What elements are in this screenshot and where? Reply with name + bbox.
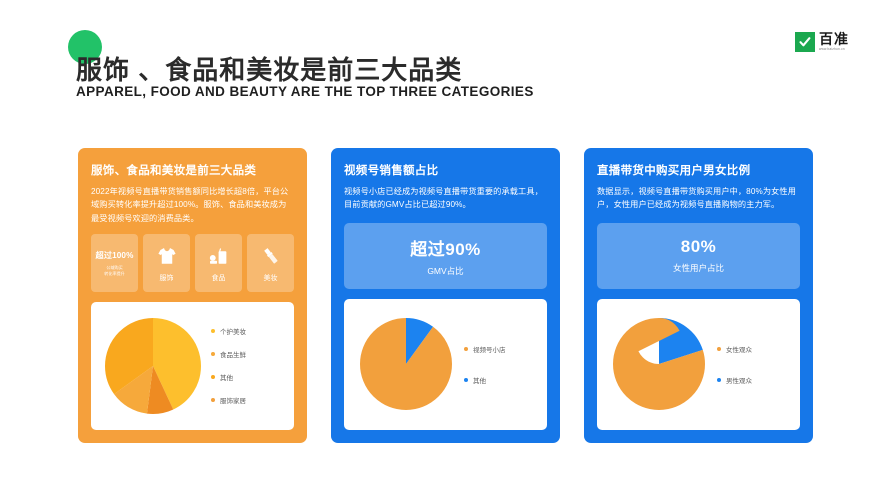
legend-item: 服饰家居 bbox=[211, 395, 286, 405]
brand-name: 百准 bbox=[819, 32, 849, 46]
check-icon bbox=[795, 32, 815, 52]
card-title: 直播带货中购买用户男女比例 bbox=[597, 162, 800, 178]
legend-item: 男性观众 bbox=[717, 375, 792, 385]
category-box-beauty: 美妆 bbox=[247, 234, 294, 292]
brand-url: www.baizhun.cn bbox=[819, 48, 849, 51]
category-card[interactable]: 服饰、食品和美妆是前三大品类 2022年视频号直播带货销售额同比增长超8倍，平台… bbox=[78, 148, 307, 443]
legend-item: 个护美妆 bbox=[211, 326, 286, 336]
pie-chart-panel-2: 视频号小店 其他 bbox=[344, 299, 547, 430]
legend-label: 其他 bbox=[220, 372, 233, 382]
legend-item: 其他 bbox=[464, 375, 539, 385]
highlight-label: GMV占比 bbox=[427, 265, 463, 277]
legend-label: 其他 bbox=[473, 375, 486, 385]
conversion-stat-box: 超过100% 公域购买转化率提升 bbox=[91, 234, 138, 292]
pie-chart-categories bbox=[99, 318, 207, 414]
category-label-food: 食品 bbox=[212, 273, 226, 283]
page-header: 服饰 、食品和美妆是前三大品类 APPAREL, FOOD AND BEAUTY… bbox=[0, 0, 889, 130]
highlight-stat-box: 超过90% GMV占比 bbox=[344, 223, 547, 289]
card-description: 数据显示，视频号直播带货购买用户中，80%为女性用户，女性用户已经成为视频号直播… bbox=[597, 185, 800, 212]
food-drink-icon bbox=[209, 243, 229, 269]
legend-dot-icon bbox=[211, 329, 215, 333]
category-label-beauty: 美妆 bbox=[264, 273, 278, 283]
legend-dot-icon bbox=[211, 375, 215, 379]
legend-label: 女性观众 bbox=[726, 344, 752, 354]
legend-item: 视频号小店 bbox=[464, 344, 539, 354]
pie-chart-gender-ratio bbox=[605, 318, 713, 410]
legend-label: 视频号小店 bbox=[473, 344, 506, 354]
legend-dot-icon bbox=[717, 347, 721, 351]
card-title: 视频号销售额占比 bbox=[344, 162, 547, 178]
sales-share-card[interactable]: 视频号销售额占比 视频号小店已经成为视频号直播带货重要的承载工具，目前贡献的GM… bbox=[331, 148, 560, 443]
legend-dot-icon bbox=[211, 352, 215, 356]
brand-logo-text: 百准 www.baizhun.cn bbox=[819, 32, 849, 51]
pie-chart-panel-1: 个护美妆 食品生鲜 其他 服饰家居 bbox=[91, 302, 294, 430]
conversion-stat-value: 超过100% bbox=[96, 249, 134, 261]
page-subtitle: APPAREL, FOOD AND BEAUTY ARE THE TOP THR… bbox=[76, 84, 534, 99]
brand-logo: 百准 www.baizhun.cn bbox=[795, 32, 849, 52]
pie-chart-panel-3: 女性观众 男性观众 bbox=[597, 299, 800, 430]
legend-dot-icon bbox=[717, 378, 721, 382]
pie-legend-1: 个护美妆 食品生鲜 其他 服饰家居 bbox=[207, 326, 286, 405]
card-description: 视频号小店已经成为视频号直播带货重要的承载工具，目前贡献的GMV占比已超过90%… bbox=[344, 185, 547, 212]
lipstick-icon bbox=[261, 243, 281, 269]
pie-legend-2: 视频号小店 其他 bbox=[460, 344, 539, 385]
icon-strip: 超过100% 公域购买转化率提升 服饰 bbox=[91, 234, 294, 292]
legend-item: 其他 bbox=[211, 372, 286, 382]
category-box-food: 食品 bbox=[195, 234, 242, 292]
highlight-label: 女性用户占比 bbox=[673, 262, 724, 274]
card-title: 服饰、食品和美妆是前三大品类 bbox=[91, 162, 294, 178]
category-label-apparel: 服饰 bbox=[160, 273, 174, 283]
highlight-value: 超过90% bbox=[410, 235, 481, 260]
legend-dot-icon bbox=[464, 347, 468, 351]
legend-label: 食品生鲜 bbox=[220, 349, 246, 359]
legend-dot-icon bbox=[464, 378, 468, 382]
highlight-stat-box: 80% 女性用户占比 bbox=[597, 223, 800, 289]
category-box-apparel: 服饰 bbox=[143, 234, 190, 292]
legend-item: 女性观众 bbox=[717, 344, 792, 354]
pie-chart-sales-share bbox=[352, 318, 460, 410]
legend-item: 食品生鲜 bbox=[211, 349, 286, 359]
conversion-stat-label: 公域购买转化率提升 bbox=[104, 265, 124, 277]
pie-legend-3: 女性观众 男性观众 bbox=[713, 344, 792, 385]
cards-row: 服饰、食品和美妆是前三大品类 2022年视频号直播带货销售额同比增长超8倍，平台… bbox=[78, 148, 813, 443]
legend-label: 个护美妆 bbox=[220, 326, 246, 336]
legend-dot-icon bbox=[211, 398, 215, 402]
card-description: 2022年视频号直播带货销售额同比增长超8倍，平台公域购买转化率提升超过100%… bbox=[91, 185, 294, 225]
highlight-value: 80% bbox=[681, 237, 717, 257]
page-title: 服饰 、食品和美妆是前三大品类 bbox=[76, 50, 462, 87]
legend-label: 男性观众 bbox=[726, 375, 752, 385]
tshirt-icon bbox=[157, 243, 177, 269]
legend-label: 服饰家居 bbox=[220, 395, 246, 405]
gender-ratio-card[interactable]: 直播带货中购买用户男女比例 数据显示，视频号直播带货购买用户中，80%为女性用户… bbox=[584, 148, 813, 443]
